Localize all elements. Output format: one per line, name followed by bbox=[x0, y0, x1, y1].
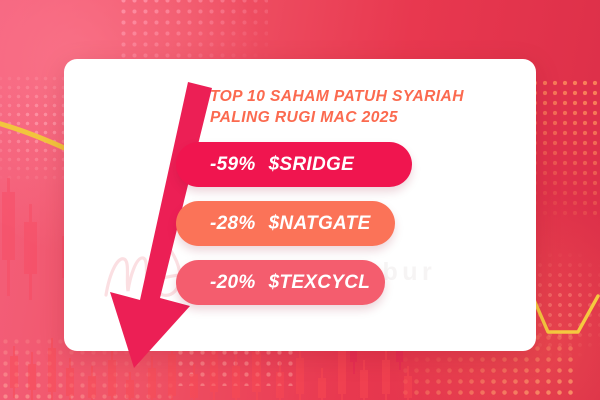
page-title: TOP 10 SAHAM PATUH SYARIAH PALING RUGI M… bbox=[210, 86, 510, 128]
bar-value-label: -20% bbox=[210, 272, 256, 294]
bar-row: -28% $NATGATE bbox=[176, 201, 395, 246]
title-line-2: PALING RUGI MAC 2025 bbox=[210, 107, 510, 128]
bar-row: -20% $TEXCYCL bbox=[176, 260, 385, 305]
infographic-canvas: majalahlabur TOP 10 SAHAM PATUH SYARIAH … bbox=[0, 0, 600, 400]
bar-value-label: -28% bbox=[210, 213, 256, 235]
bar-row: -59% $SRIDGE bbox=[176, 142, 412, 187]
bar-chart: -59% $SRIDGE -28% $NATGATE -20% $TEXCYCL bbox=[176, 142, 476, 319]
bar-value-label: -59% bbox=[210, 154, 256, 176]
title-line-1: TOP 10 SAHAM PATUH SYARIAH bbox=[210, 88, 464, 105]
bar-ticker-label: $SRIDGE bbox=[269, 154, 355, 176]
bar-ticker-label: $NATGATE bbox=[269, 213, 371, 235]
bar-ticker-label: $TEXCYCL bbox=[269, 272, 371, 294]
